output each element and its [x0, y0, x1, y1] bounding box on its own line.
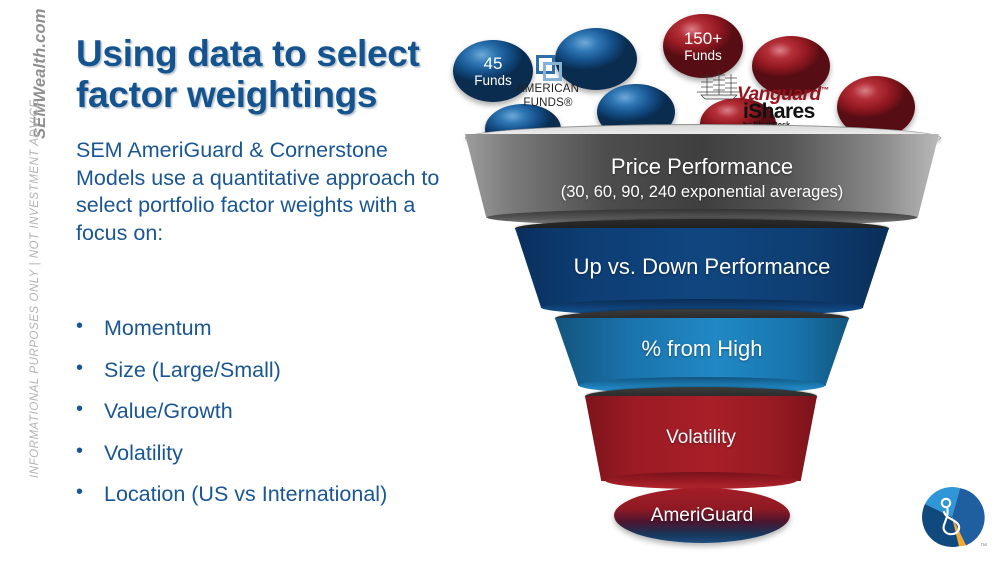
intro-paragraph: SEM AmeriGuard & Cornerstone Models use … [76, 137, 448, 248]
funnel-stage-foot [605, 472, 797, 489]
funnel-stage-price-performance: Price Performance (30, 60, 90, 240 expon… [465, 134, 939, 218]
sphere-count: 150+ [663, 29, 743, 48]
list-item: Size (Large/Small) [71, 360, 471, 382]
factor-list: Momentum Size (Large/Small) Value/Growth… [71, 318, 471, 526]
disclaimer-watermark: INFORMATIONAL PURPOSES ONLY | NOT INVEST… [29, 100, 41, 478]
sem-logo-icon: ™ [916, 481, 988, 553]
funnel-stage-pct-from-high: % from High [555, 318, 849, 386]
trademark-symbol: ™ [980, 543, 987, 550]
sphere-unit: Funds [663, 48, 743, 63]
sphere-label: 150+ Funds [663, 29, 743, 63]
af-line2: FUNDS® [523, 97, 572, 109]
af-line1: AMERICAN [517, 83, 579, 95]
funnel-stage-title: Price Performance [465, 154, 939, 179]
vertical-brand-rail: SEMWealth.com INFORMATIONAL PURPOSES ONL… [0, 0, 42, 563]
american-funds-squares-icon [536, 55, 560, 79]
page-title: Using data to select factor weightings [76, 33, 456, 116]
funnel-stage-title: % from High [555, 336, 849, 361]
funnel-stage-volatility: Volatility [585, 396, 817, 481]
funnel-outcome-label: AmeriGuard [614, 505, 790, 527]
american-funds-logo: AMERICAN FUNDS® [505, 55, 591, 111]
ishares-wordmark: iShares [743, 100, 863, 124]
funnel-stage-title: Up vs. Down Performance [515, 254, 889, 279]
funnel-stage-title: Volatility [585, 427, 817, 449]
sem-corner-logo: ™ [916, 481, 988, 553]
funnel-stage-up-vs-down: Up vs. Down Performance [515, 228, 889, 308]
list-item: Volatility [71, 443, 471, 465]
list-item: Value/Growth [71, 401, 471, 423]
american-funds-wordmark: AMERICAN FUNDS® [505, 82, 591, 111]
funnel-outcome-ameriguard: AmeriGuard [614, 488, 790, 543]
slide-canvas: SEMWealth.com INFORMATIONAL PURPOSES ONL… [0, 0, 1000, 563]
sailing-ship-icon [695, 68, 743, 102]
vanguard-tm: ™ [821, 86, 829, 95]
funnel-diagram: 45 Funds 150+ Funds AMERICAN FUNDS® [445, 0, 1000, 563]
funnel-stage-subtitle: (30, 60, 90, 240 exponential averages) [465, 183, 939, 202]
list-item: Momentum [71, 318, 471, 340]
list-item: Location (US vs International) [71, 484, 471, 506]
